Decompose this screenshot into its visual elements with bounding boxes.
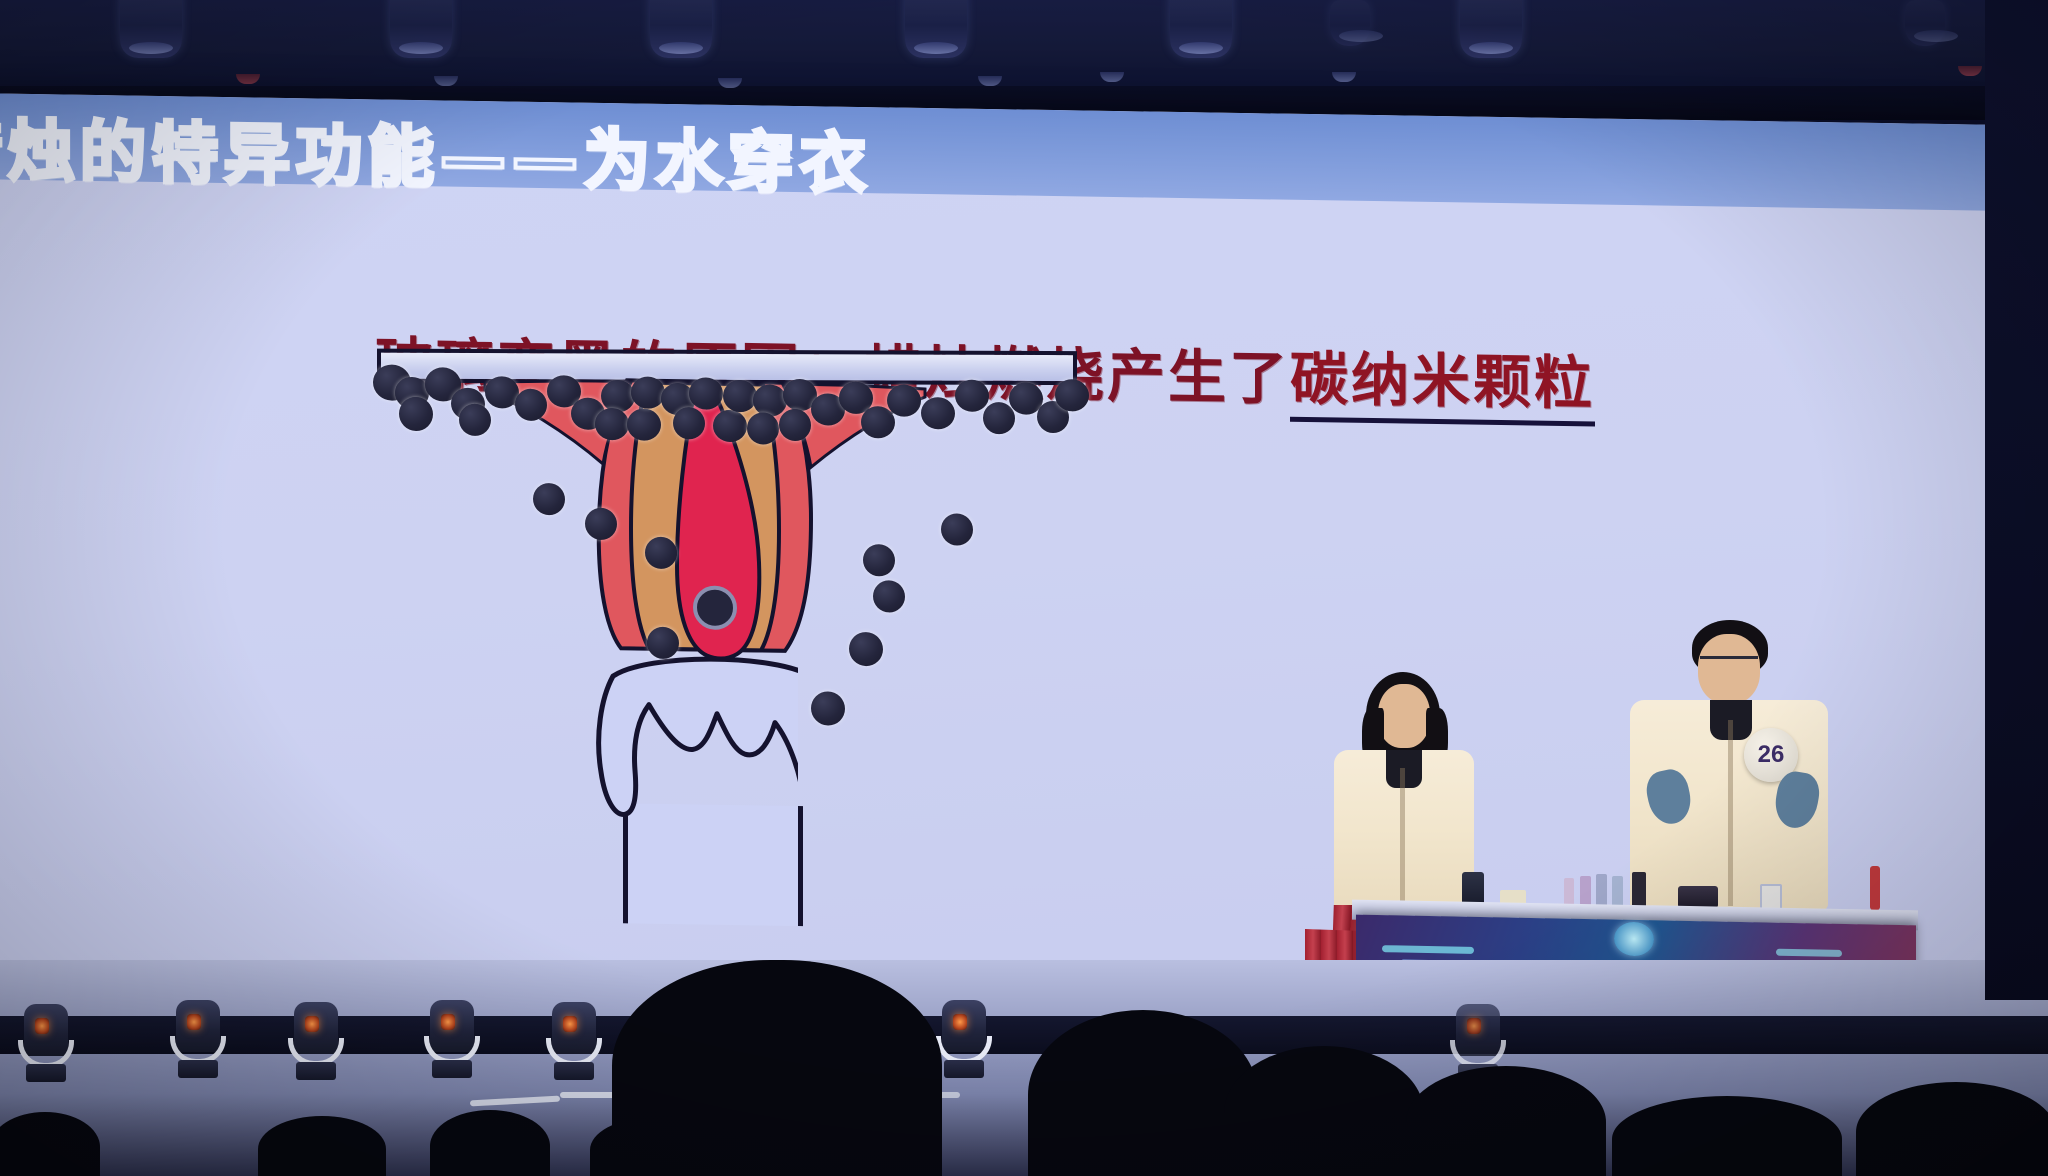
moving-head-light-icon [288,1002,344,1078]
soot-particle [747,412,779,445]
avatar [1698,634,1760,704]
audience-silhouette [1612,1096,1842,1176]
soot-particle [863,544,895,577]
soot-particle [887,384,921,417]
audience-silhouette [612,960,942,1176]
moving-head-light-icon [546,1002,602,1078]
soot-particle [673,407,705,440]
test-tube [1596,874,1607,908]
soot-particle [955,379,989,412]
soot-particle [585,508,617,541]
soot-particle [595,408,629,441]
test-tube [1612,876,1623,908]
soot-particle [1055,379,1089,412]
ceiling-light-icon [1330,0,1370,46]
coat-seam [1728,720,1733,906]
lab-stand [1632,872,1646,908]
hall-side-wall [1985,0,2048,1000]
soot-particle [983,402,1015,435]
moving-head-light-icon [424,1000,480,1076]
soot-particle [627,408,661,441]
headline-emphasis-text: 碳纳米颗粒 [1290,345,1595,427]
audience-silhouette [430,1110,550,1176]
event-emblem-icon [1614,922,1654,957]
soot-particle [533,483,565,516]
moving-head-light-icon [936,1000,992,1076]
soot-particle [645,537,677,570]
soot-particle [647,627,679,660]
soot-particle [723,380,757,413]
soot-particle [811,691,845,726]
soot-particle [459,404,491,437]
stage-photo: 蜡烛的特异功能——为水穿衣 玻璃变黑的原因：蜡烛燃烧产生了碳纳米颗粒 [0,0,2048,1176]
female-presenter [1328,672,1478,922]
moving-head-light-icon [170,1000,226,1076]
male-presenter: 26 [1630,620,1830,910]
moving-head-light-icon [18,1004,74,1080]
red-marker [1870,866,1880,910]
slide-title: 蜡烛的特异功能——为水穿衣 [0,96,872,207]
coat-seam [1400,768,1405,918]
ceiling-light-icon [390,0,452,58]
soot-particle [515,389,547,422]
audience-silhouette [1856,1082,2048,1176]
audience-silhouette [1406,1066,1606,1176]
glasses-icon [1700,656,1758,669]
ceiling-light-icon [650,0,712,58]
ceiling-light-icon [1905,0,1945,46]
candle-wax-drip [593,632,798,827]
soot-particle [849,632,883,667]
soot-particle [689,377,723,410]
soot-particle [941,513,973,546]
soot-particle [779,409,811,442]
soot-particle [873,580,905,613]
ceiling-light-icon [905,0,967,58]
banner-streak [1776,949,1842,957]
candle-flame-diagram [355,344,1115,976]
soot-particle [601,380,635,413]
soot-particle [921,397,955,430]
soot-particle [399,397,433,432]
soot-particle [713,410,747,443]
ceiling-light-icon [1170,0,1232,58]
soot-particle [485,376,519,409]
audience-silhouette [258,1116,386,1176]
avatar [1378,684,1430,748]
ceiling-light-icon [120,0,182,58]
audience-silhouette [1224,1046,1424,1176]
soot-particle [631,376,665,409]
lab-tray [1678,886,1718,908]
ceiling-light-icon [1460,0,1522,58]
soot-particle [861,406,895,439]
